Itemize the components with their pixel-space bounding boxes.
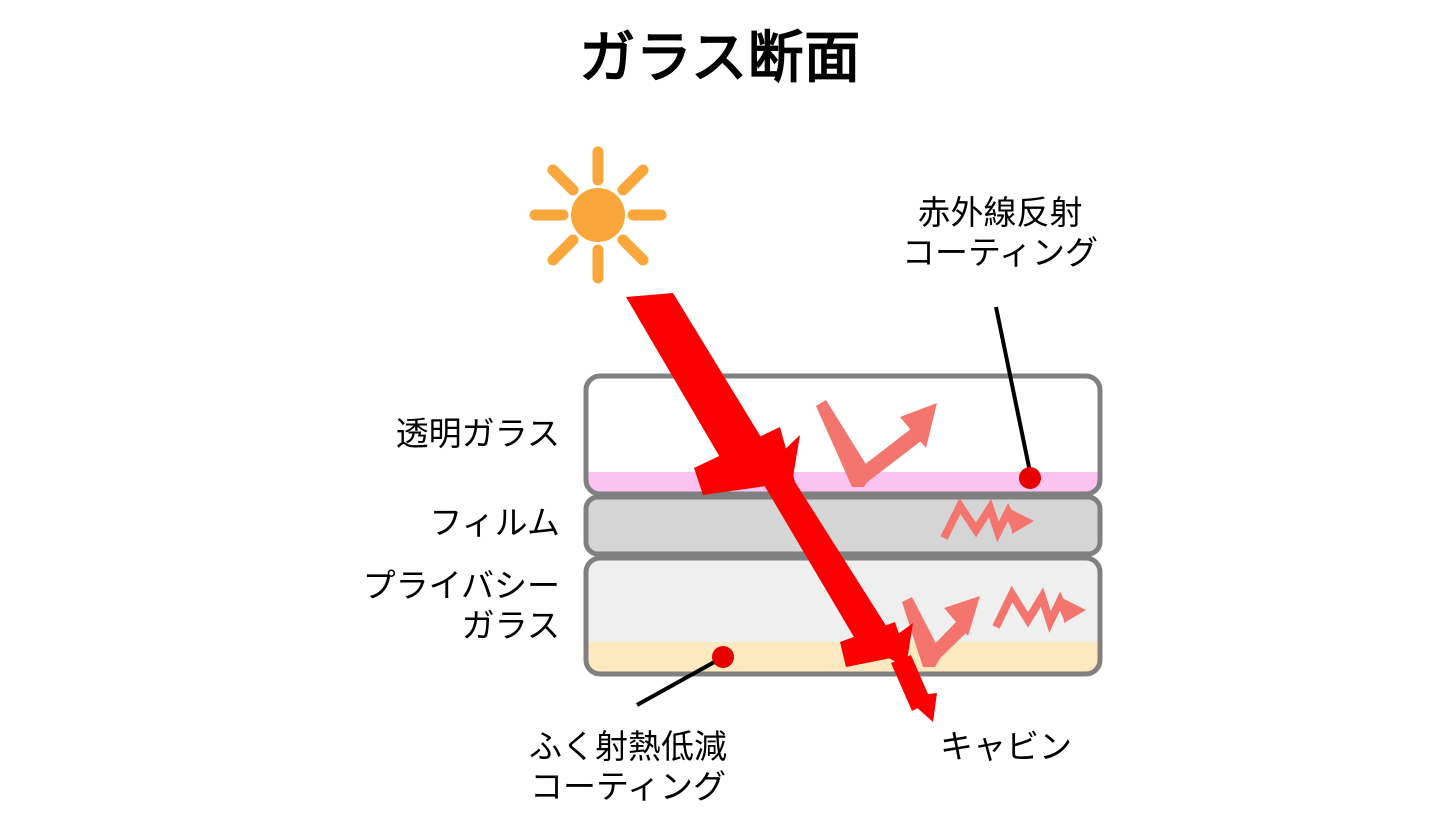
sun-icon xyxy=(535,152,661,278)
diagram-artwork xyxy=(0,0,1440,830)
layer-label-clear-glass: 透明ガラス xyxy=(396,414,560,454)
layer-label-privacy-glass: プライバシー ガラス xyxy=(363,566,560,647)
layer-label-film: フィルム xyxy=(429,503,560,543)
callout-heat-coating: ふく射熱低減 コーティング xyxy=(505,727,751,808)
red-dot-icon-ir xyxy=(1019,467,1041,489)
callout-ir-coating: 赤外線反射 コーティング xyxy=(880,193,1120,274)
red-dot-icon-heat xyxy=(712,646,734,668)
callout-cabin: キャビン xyxy=(940,727,1120,767)
diagram-canvas: ガラス断面 xyxy=(0,0,1440,830)
